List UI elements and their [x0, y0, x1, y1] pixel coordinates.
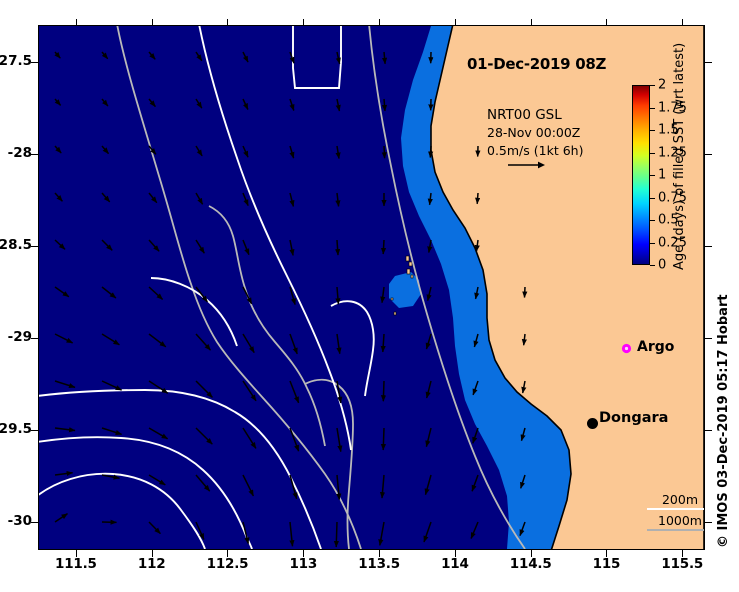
y-tick-mark — [705, 338, 712, 339]
x-tick-label: 114 — [441, 556, 469, 572]
x-tick-label: 113 — [289, 556, 317, 572]
colorbar-tick-mark — [650, 243, 655, 244]
argo-label: Argo — [637, 339, 674, 355]
colorbar-tick-mark — [650, 220, 655, 221]
x-tick-mark — [227, 19, 228, 25]
depth-key-deep-label: 1000m — [645, 513, 705, 528]
colorbar-tick-mark — [650, 153, 655, 154]
current-vector-arrow — [477, 193, 478, 204]
x-tick-label: 115.5 — [661, 556, 703, 572]
annotation-line-3: 0.5m/s (1kt 6h) — [487, 142, 583, 160]
annotation-line-2: 28-Nov 00:00Z — [487, 124, 583, 142]
colorbar-tick-label: 0 — [658, 258, 666, 273]
colorbar-tick-mark — [650, 175, 655, 176]
y-tick-label: -30 — [8, 513, 32, 529]
colorbar-tick-label: 1 — [658, 168, 666, 183]
x-tick-mark — [379, 19, 380, 25]
y-tick-mark — [705, 430, 712, 431]
colorbar-tick-mark — [650, 85, 655, 86]
current-vector-arrow — [384, 99, 385, 111]
copyright-notice: © IMOS 03-Dec-2019 05:17 Hobart — [716, 300, 739, 315]
depth-contour-key: 200m 1000m — [645, 492, 705, 531]
dongara-marker-icon[interactable] — [587, 418, 598, 429]
colorbar-tick-mark — [650, 130, 655, 131]
x-tick-mark — [606, 19, 607, 25]
colorbar-title-text: Age (days) of filled SST (wrt latest) — [672, 254, 687, 270]
y-tick-mark — [31, 62, 38, 63]
velocity-scale-arrow-icon — [507, 159, 547, 171]
y-tick-mark — [705, 522, 712, 523]
x-tick-label: 114.5 — [510, 556, 552, 572]
x-tick-mark — [682, 19, 683, 25]
map-plot-area[interactable]: 01-Dec-2019 08Z NRT00 GSL 28-Nov 00:00Z … — [38, 25, 705, 550]
depth-key-shallow-line — [647, 508, 705, 510]
y-tick-label: -28 — [8, 145, 32, 161]
colorbar-title: Age (days) of filled SST (wrt latest) — [672, 72, 688, 272]
current-vector-arrow — [525, 287, 526, 298]
y-tick-label: -27.5 — [0, 53, 32, 69]
annotation-line-1: NRT00 GSL — [487, 106, 583, 124]
x-tick-label: 115 — [593, 556, 621, 572]
depth-key-deep-line — [647, 529, 705, 531]
dongara-label: Dongara — [599, 410, 668, 426]
x-tick-mark — [303, 19, 304, 25]
x-tick-label: 112 — [138, 556, 166, 572]
y-tick-mark — [31, 430, 38, 431]
x-tick-mark — [76, 19, 77, 25]
current-vector-arrow — [383, 381, 384, 401]
data-source-annotation: NRT00 GSL 28-Nov 00:00Z 0.5m/s (1kt 6h) — [487, 106, 583, 160]
copyright-text: © IMOS 03-Dec-2019 05:17 Hobart — [716, 294, 731, 548]
x-tick-mark — [455, 19, 456, 25]
x-tick-label: 113.5 — [358, 556, 400, 572]
y-tick-mark — [705, 62, 712, 63]
y-tick-mark — [705, 154, 712, 155]
y-tick-label: -28.5 — [0, 237, 32, 253]
map-figure: 01-Dec-2019 08Z NRT00 GSL 28-Nov 00:00Z … — [0, 0, 739, 592]
y-tick-label: -29.5 — [0, 421, 32, 437]
depth-key-shallow-label: 200m — [645, 492, 705, 507]
current-vector-arrow — [336, 522, 337, 547]
y-tick-mark — [705, 246, 712, 247]
y-tick-mark — [31, 522, 38, 523]
y-tick-mark — [31, 338, 38, 339]
current-vector-arrow — [430, 146, 431, 158]
map-raster — [39, 26, 704, 549]
y-tick-label: -29 — [8, 329, 32, 345]
x-tick-mark — [152, 19, 153, 25]
y-tick-mark — [31, 246, 38, 247]
current-vector-arrow — [384, 146, 385, 158]
colorbar[interactable]: 00.250.50.7511.251.51.752 — [632, 85, 650, 265]
y-tick-mark — [31, 154, 38, 155]
colorbar-tick-mark — [650, 265, 655, 266]
colorbar-tick-mark — [650, 108, 655, 109]
colorbar-tick-label: 2 — [658, 78, 666, 93]
current-vector-arrow — [337, 240, 338, 255]
current-vector-arrow — [383, 428, 384, 450]
x-tick-label: 112.5 — [207, 556, 249, 572]
plot-title: 01-Dec-2019 08Z — [467, 55, 606, 73]
current-vector-arrow — [383, 240, 384, 254]
colorbar-tick-mark — [650, 198, 655, 199]
x-tick-mark — [531, 19, 532, 25]
x-tick-label: 111.5 — [55, 556, 97, 572]
argo-marker-icon[interactable] — [621, 343, 632, 354]
colorbar-gradient — [632, 85, 650, 265]
